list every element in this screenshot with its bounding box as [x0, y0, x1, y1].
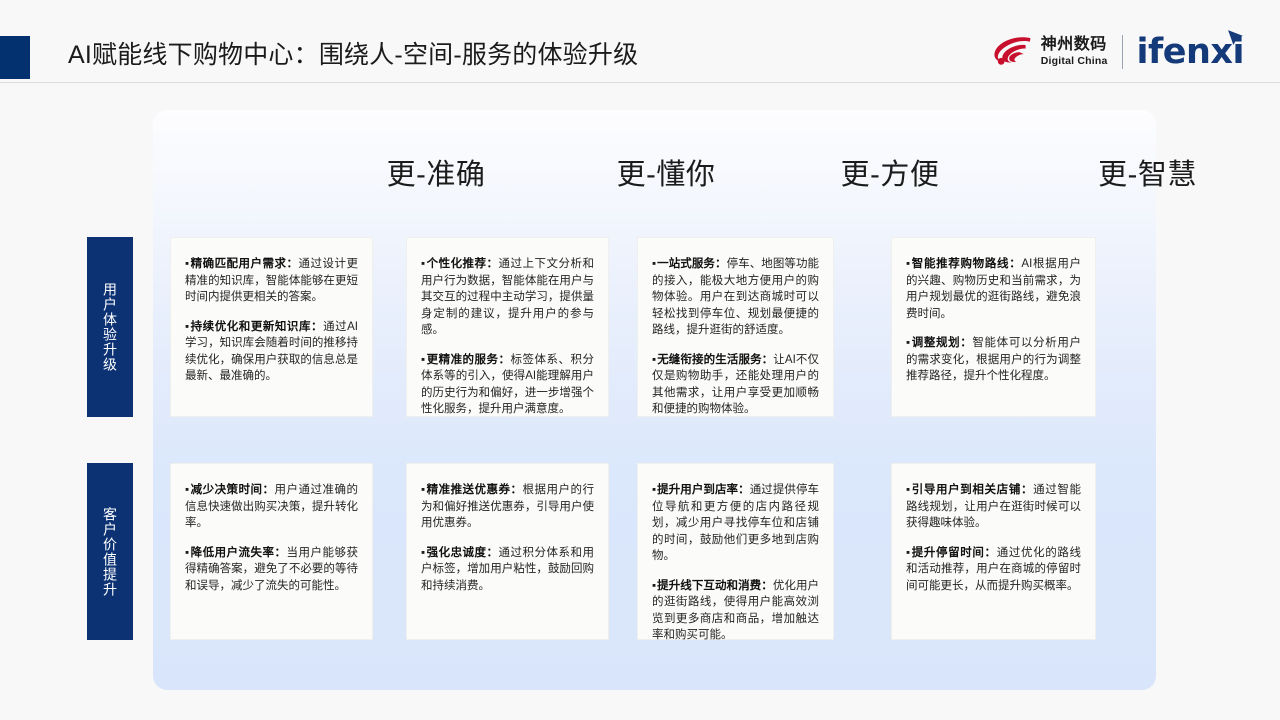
bullet-item: ▪减少决策时间：用户通过准确的信息快速做出购买决策，提升转化率。 — [185, 482, 358, 532]
logo-divider — [1122, 35, 1123, 69]
bullet-term: 精确匹配用户需求： — [191, 258, 299, 270]
bullet-term: 引导用户到相关店铺： — [912, 484, 1033, 496]
bullet-item: ▪个性化推荐：通过上下文分析和用户行为数据，智能体能在用户与其交互的过程中主动学… — [421, 256, 594, 339]
column-header-intelligent: 更-智慧 — [875, 152, 1280, 198]
bullet-term: 精准推送优惠券： — [427, 484, 523, 496]
bullet-item: ▪引导用户到相关店铺：通过智能路线规划，让用户在逛街时候可以获得趣味体验。 — [906, 482, 1081, 532]
page-header: AI赋能线下购物中心：围绕人-空间-服务的体验升级 神州数码 Digital C… — [0, 0, 1280, 83]
bullet-term: 提升线下互动和消费： — [657, 580, 773, 592]
digital-china-name-cn: 神州数码 — [1041, 37, 1108, 53]
bullet-term: 无缝衔接的生活服务： — [657, 354, 773, 366]
digital-china-logo: 神州数码 Digital China — [992, 36, 1108, 68]
bullet-term: 个性化推荐： — [427, 258, 499, 270]
bullet-term: 智能推荐购物路线： — [912, 258, 1022, 270]
column-header-row: 更-准确 更-懂你 更-方便 更-智慧 — [153, 152, 1156, 204]
card-r2c4: ▪引导用户到相关店铺：通过智能路线规划，让用户在逛街时候可以获得趣味体验。 ▪提… — [891, 463, 1096, 640]
bullet-dot: ▪ — [421, 484, 426, 496]
bullet-dot: ▪ — [652, 354, 656, 366]
bullet-dot: ▪ — [906, 484, 911, 496]
bullet-term: 一站式服务： — [657, 258, 726, 270]
bullet-term: 提升用户到店率： — [657, 484, 750, 496]
bullet-item: ▪精准推送优惠券：根据用户的行为和偏好推送优惠券，引导用户使用优惠券。 — [421, 482, 594, 532]
bullet-item: ▪调整规划：智能体可以分析用户的需求变化，根据用户的行为调整推荐路径，提升个性化… — [906, 335, 1081, 385]
ifenxi-arrow-icon — [1227, 29, 1244, 46]
row-label-user-experience: 用户体验升级 — [87, 237, 133, 417]
logo-lockup: 神州数码 Digital China ifenxi — [992, 30, 1244, 74]
bullet-dot: ▪ — [185, 258, 190, 270]
bullet-item: ▪无缝衔接的生活服务：让AI不仅仅是购物助手，还能处理用户的其他需求，让用户享受… — [652, 352, 819, 418]
bullet-item: ▪提升用户到店率：通过提供停车位导航和更方便的店内路径规划，减少用户寻找停车位和… — [652, 482, 819, 565]
bullet-term: 提升停留时间： — [912, 547, 997, 559]
bullet-dot: ▪ — [185, 547, 190, 559]
bullet-term: 减少决策时间： — [191, 484, 275, 496]
bullet-term: 降低用户流失率： — [191, 547, 287, 559]
bullet-dot: ▪ — [652, 484, 656, 496]
bullet-dot: ▪ — [906, 547, 911, 559]
bullet-item: ▪提升停留时间：通过优化的路线和活动推荐，用户在商城的停留时间可能更长，从而提升… — [906, 545, 1081, 595]
card-r1c3: ▪一站式服务：停车、地图等功能的接入，能极大地方便用户的购物体验。用户在到达商城… — [637, 237, 834, 417]
bullet-dot: ▪ — [421, 258, 426, 270]
bullet-item: ▪持续优化和更新知识库：通过AI学习，知识库会随着时间的推移持续优化，确保用户获… — [185, 319, 358, 385]
card-r1c1: ▪精确匹配用户需求：通过设计更精准的知识库，智能体能够在更短时间内提供更相关的答… — [170, 237, 373, 417]
bullet-item: ▪智能推荐购物路线：AI根据用户的兴趣、购物历史和当前需求，为用户规划最优的逛街… — [906, 256, 1081, 322]
bullet-dot: ▪ — [185, 484, 190, 496]
row-label-customer-value: 客户价值提升 — [87, 463, 133, 640]
bullet-dot: ▪ — [421, 547, 426, 559]
bullet-item: ▪强化忠诚度：通过积分体系和用户标签，增加用户粘性，鼓励回购和持续消费。 — [421, 545, 594, 595]
digital-china-name-en: Digital China — [1041, 56, 1108, 67]
card-r2c1: ▪减少决策时间：用户通过准确的信息快速做出购买决策，提升转化率。 ▪降低用户流失… — [170, 463, 373, 640]
ifenxi-logo: ifenxi — [1137, 33, 1244, 71]
card-r1c2: ▪个性化推荐：通过上下文分析和用户行为数据，智能体能在用户与其交互的过程中主动学… — [406, 237, 609, 417]
page-title: AI赋能线下购物中心：围绕人-空间-服务的体验升级 — [68, 38, 638, 72]
bullet-item: ▪一站式服务：停车、地图等功能的接入，能极大地方便用户的购物体验。用户在到达商城… — [652, 256, 819, 339]
bullet-item: ▪更精准的服务：标签体系、积分体系等的引入，使得AI能理解用户的历史行为和偏好，… — [421, 352, 594, 418]
bullet-term: 更精准的服务： — [427, 354, 511, 366]
title-accent-block — [0, 36, 30, 79]
bullet-term: 持续优化和更新知识库： — [191, 321, 323, 333]
bullet-item: ▪降低用户流失率：当用户能够获得精确答案，避免了不必要的等待和误导，减少了流失的… — [185, 545, 358, 595]
bullet-dot: ▪ — [421, 354, 426, 366]
card-r1c4: ▪智能推荐购物路线：AI根据用户的兴趣、购物历史和当前需求，为用户规划最优的逛街… — [891, 237, 1096, 417]
bullet-term: 强化忠诚度： — [427, 547, 499, 559]
bullet-item: ▪精确匹配用户需求：通过设计更精准的知识库，智能体能够在更短时间内提供更相关的答… — [185, 256, 358, 306]
bullet-dot: ▪ — [906, 258, 911, 270]
card-r2c2: ▪精准推送优惠券：根据用户的行为和偏好推送优惠券，引导用户使用优惠券。 ▪强化忠… — [406, 463, 609, 640]
bullet-dot: ▪ — [652, 580, 656, 592]
bullet-term: 调整规划： — [912, 337, 973, 349]
bullet-dot: ▪ — [906, 337, 911, 349]
card-r2c3: ▪提升用户到店率：通过提供停车位导航和更方便的店内路径规划，减少用户寻找停车位和… — [637, 463, 834, 640]
bullet-item: ▪提升线下互动和消费：优化用户的逛街路线，使得用户能高效浏览到更多商店和商品，增… — [652, 578, 819, 644]
digital-china-swoosh-icon — [992, 36, 1034, 68]
bullet-dot: ▪ — [652, 258, 656, 270]
bullet-dot: ▪ — [185, 321, 190, 333]
digital-china-wordmark: 神州数码 Digital China — [1041, 37, 1108, 67]
header-divider — [0, 82, 1280, 83]
